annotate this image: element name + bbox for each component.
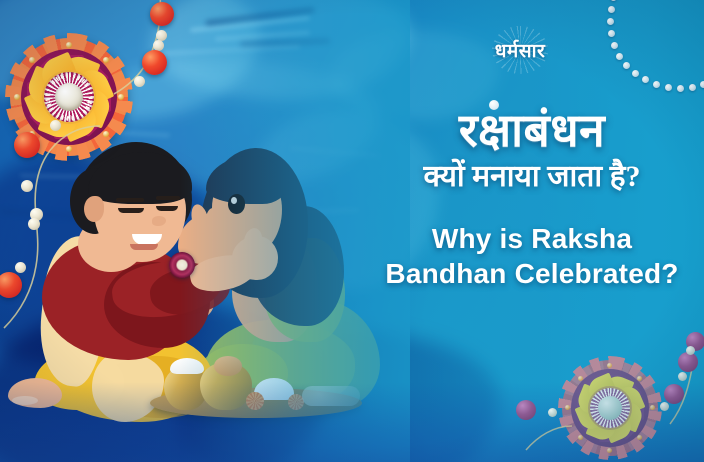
bead-pearl xyxy=(134,76,145,87)
dotted-arc-ornament xyxy=(588,0,704,108)
headline-english-line2: Bandhan Celebrated? xyxy=(372,256,692,292)
brand-logo[interactable]: धर्मसार xyxy=(455,27,585,73)
subheadline-hindi: क्यों मनाया जाता है? xyxy=(372,160,692,195)
headline-block: रक्षाबंधन क्यों मनाया जाता है? Why is Ra… xyxy=(372,108,692,292)
bead-pearl xyxy=(15,262,26,273)
bead-pearl xyxy=(548,408,557,417)
bead-purple xyxy=(678,352,698,372)
rakhi-on-wrist xyxy=(169,252,195,278)
bead-red xyxy=(14,132,40,158)
bead-purple xyxy=(664,384,684,404)
bead-red xyxy=(142,50,167,75)
bead-pearl xyxy=(28,218,40,230)
festival-poster: धर्मसार रक्षाबंधन क्यों मनाया जाता है? W… xyxy=(0,0,704,462)
headline-hindi: रक्षाबंधन xyxy=(372,108,692,154)
headline-english-line1: Why is Raksha xyxy=(432,223,632,254)
coconut-on-kalash xyxy=(214,356,242,376)
bead-pearl xyxy=(660,402,669,411)
rice-mound-left xyxy=(170,358,204,374)
marigold-left xyxy=(246,392,264,410)
bead-pearl xyxy=(686,346,695,355)
headline-english: Why is Raksha Bandhan Celebrated? xyxy=(372,221,692,293)
sweets-pile xyxy=(302,386,360,406)
pooja-thali-with-kalash-rice-and-marigold xyxy=(150,360,370,430)
bead-purple xyxy=(516,400,536,420)
rakhi-gold-rim-dots xyxy=(562,360,658,456)
bead-pearl xyxy=(21,180,33,192)
brand-logo-text: धर्मसार xyxy=(495,37,546,63)
bead-pearl xyxy=(678,372,687,381)
rakhi-flower-ornament-faded xyxy=(562,360,658,456)
bead-red xyxy=(150,2,174,26)
bead-pearl xyxy=(50,120,61,131)
